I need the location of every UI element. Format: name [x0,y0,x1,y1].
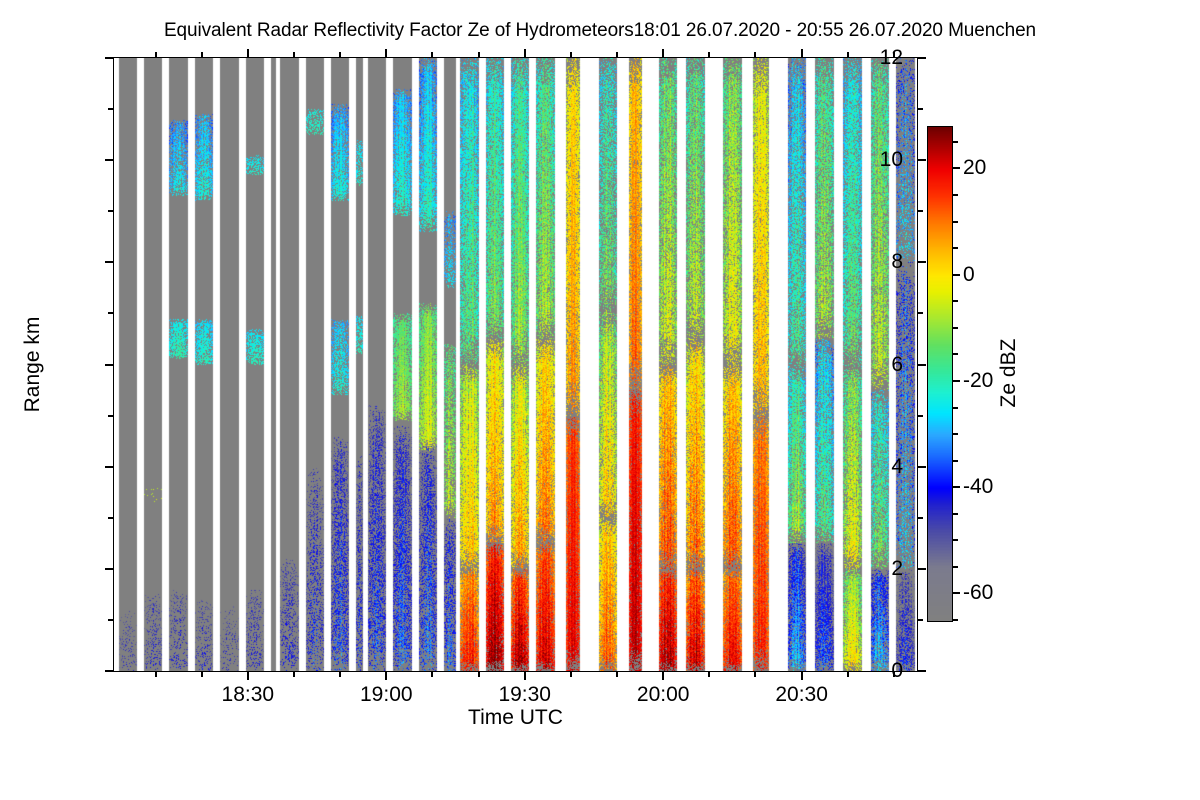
y-tick-12 [105,57,114,59]
y-tick-right-10 [917,159,926,161]
x-tick-top-1090 [155,52,157,58]
x-tick-1240 [847,671,849,677]
colorbar-tick--45 [952,513,958,515]
colorbar-tick-15 [952,194,958,196]
x-tick-top-1250 [893,52,895,58]
y-tick-right-12 [917,57,926,59]
y-tick-1 [108,619,114,621]
figure-title: Equivalent Radar Reflectivity Factor Ze … [0,20,1200,42]
colorbar-tick-label-20: 20 [963,156,986,180]
y-tick-4 [105,466,114,468]
y-tick-label-2: 2 [891,557,903,581]
colorbar-tick-label--60: -60 [963,581,993,605]
title-period-text: 18:01 26.07.2020 - 20:55 26.07.2020 Muen… [634,20,1036,41]
x-tick-1160 [478,671,480,677]
colorbar-tick--65 [952,619,958,621]
x-tick-1230 [801,671,803,680]
y-tick-right-2 [917,568,926,570]
x-tick-1250 [893,671,895,677]
x-tick-label-20:00: 20:00 [637,683,690,707]
x-axis-label: Time UTC [113,706,918,730]
x-tick-1150 [431,671,433,677]
y-tick-10 [105,159,114,161]
title-main-text: Equivalent Radar Reflectivity Factor Ze … [164,20,634,41]
x-tick-top-1200 [662,49,664,58]
colorbar-tick--10 [952,327,958,329]
y-tick-right-0 [917,670,926,672]
x-tick-top-1210 [708,52,710,58]
colorbar-tick-5 [952,247,958,249]
x-tick-top-1220 [754,52,756,58]
y-tick-0 [105,670,114,672]
reflectivity-heatmap-canvas [114,58,917,671]
colorbar-tick--20 [952,380,960,382]
y-tick-6 [105,364,114,366]
colorbar-tick-label-0: 0 [963,263,975,287]
colorbar: -60-40-20020 [927,126,951,620]
x-tick-top-1190 [616,52,618,58]
y-tick-11 [108,108,114,110]
colorbar-tick-label--20: -20 [963,369,993,393]
colorbar-tick--25 [952,407,958,409]
x-tick-top-1160 [478,52,480,58]
x-tick-top-1110 [247,49,249,58]
y-tick-right-5 [917,415,923,417]
colorbar-tick-0 [952,274,960,276]
colorbar-tick--40 [952,486,960,488]
colorbar-tick-20 [952,167,960,169]
colorbar-tick--15 [952,353,958,355]
y-tick-9 [108,210,114,212]
x-tick-top-1150 [431,52,433,58]
x-tick-top-1180 [570,52,572,58]
x-tick-top-1140 [385,49,387,58]
y-tick-label-10: 10 [880,148,903,172]
x-tick-1100 [201,671,203,677]
y-tick-right-8 [917,261,926,263]
y-tick-label-6: 6 [891,353,903,377]
x-tick-1140 [385,671,387,680]
colorbar-label: Ze dBZ [996,126,1022,620]
x-tick-top-1120 [293,52,295,58]
colorbar-tick--50 [952,539,958,541]
radar-reflectivity-figure: Equivalent Radar Reflectivity Factor Ze … [0,0,1200,800]
x-tick-top-1100 [201,52,203,58]
y-tick-label-8: 8 [891,250,903,274]
y-tick-3 [108,517,114,519]
plot-area: 02468101218:3019:0019:3020:0020:30 [113,57,918,672]
y-tick-right-7 [917,312,923,314]
y-tick-5 [108,415,114,417]
y-axis-label: Range km [20,57,46,672]
x-tick-1220 [754,671,756,677]
x-tick-top-1230 [801,49,803,58]
colorbar-tick--55 [952,566,958,568]
y-tick-right-9 [917,210,923,212]
y-tick-label-12: 12 [880,46,903,70]
x-tick-1110 [247,671,249,680]
y-tick-8 [105,261,114,263]
y-tick-7 [108,312,114,314]
colorbar-gradient-canvas [927,126,953,622]
colorbar-tick-10 [952,221,958,223]
colorbar-tick--35 [952,460,958,462]
colorbar-tick-label--40: -40 [963,475,993,499]
x-tick-1120 [293,671,295,677]
x-tick-1170 [524,671,526,680]
colorbar-tick--60 [952,592,960,594]
x-tick-label-18:30: 18:30 [222,683,275,707]
x-tick-top-1170 [524,49,526,58]
x-tick-1200 [662,671,664,680]
x-tick-1130 [339,671,341,677]
colorbar-tick-25 [952,141,958,143]
x-tick-label-20:30: 20:30 [775,683,828,707]
colorbar-tick--5 [952,300,958,302]
x-tick-top-1240 [847,52,849,58]
x-tick-1180 [570,671,572,677]
y-tick-right-4 [917,466,926,468]
y-tick-right-6 [917,364,926,366]
x-tick-label-19:30: 19:30 [498,683,551,707]
colorbar-tick--30 [952,433,958,435]
x-tick-top-1130 [339,52,341,58]
x-tick-label-19:00: 19:00 [360,683,413,707]
y-tick-2 [105,568,114,570]
y-tick-right-3 [917,517,923,519]
y-tick-label-4: 4 [891,455,903,479]
y-tick-right-1 [917,619,923,621]
y-tick-right-11 [917,108,923,110]
x-tick-1210 [708,671,710,677]
x-tick-1190 [616,671,618,677]
x-tick-1090 [155,671,157,677]
